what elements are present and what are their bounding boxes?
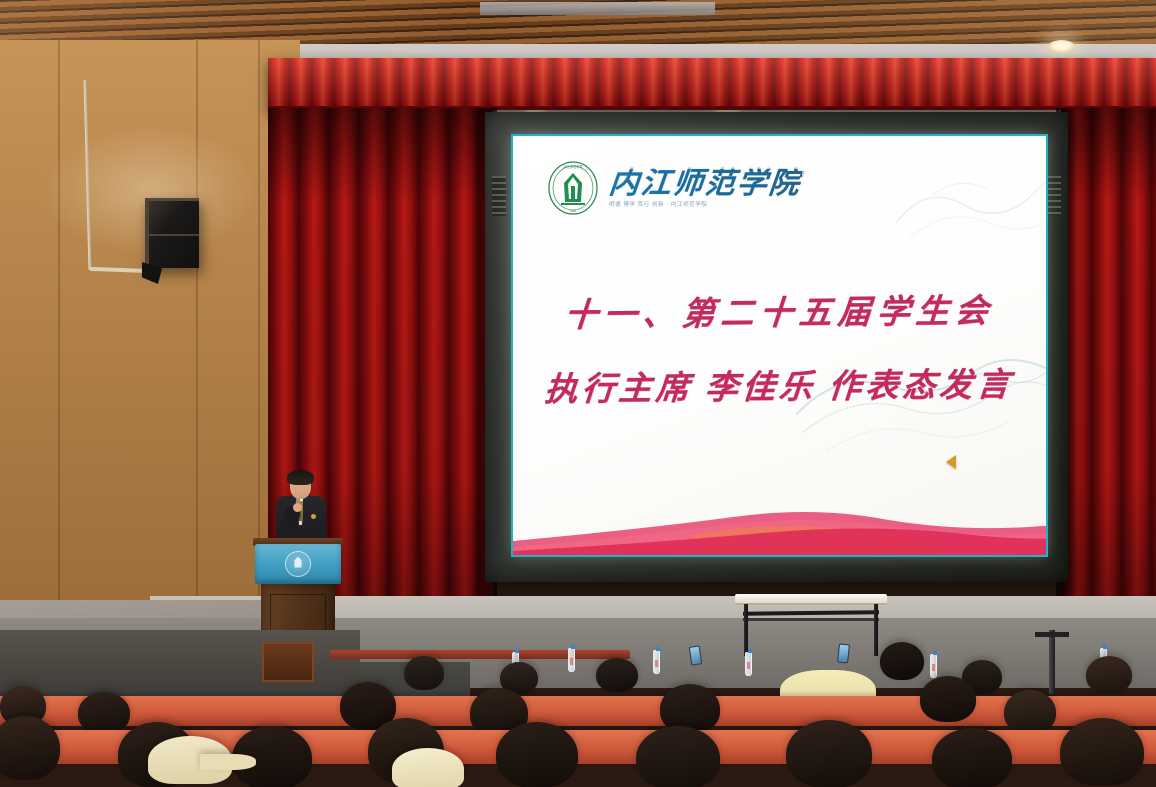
audience-head: [636, 726, 720, 787]
presenter-hair: [287, 470, 314, 485]
slide-logo-motto: 明德 博学 笃行 创新 · 内江师范学院: [609, 200, 801, 208]
audience-head: [880, 642, 924, 680]
slide-line-2: 执行主席 李佳乐 作表态发言: [543, 358, 1016, 411]
water-bottle: [745, 652, 752, 676]
audience-area: [0, 630, 1156, 787]
front-row-ledge: [330, 650, 630, 659]
audience-head: [78, 692, 130, 734]
water-bottle: [568, 648, 575, 672]
presenter-figure: [274, 470, 328, 546]
slide-logo: 内江师范学院 1956 内江师范学院 明德 博学 笃行 创新 · 内江师范学院: [547, 160, 801, 216]
water-bottle: [653, 650, 660, 674]
audience-head: [920, 676, 976, 722]
ceiling-spotlight: [1048, 40, 1075, 53]
frame-vent: [1047, 176, 1061, 216]
audience-head: [1004, 690, 1056, 734]
truss-pole: [1049, 630, 1055, 694]
curtain-valance: [268, 58, 1156, 110]
projection-screen: 内江师范学院 1956 内江师范学院 明德 博学 笃行 创新 · 内江师范学院 …: [513, 136, 1046, 555]
audience-head: [596, 658, 638, 692]
presenter-hand: [293, 503, 302, 512]
loudspeaker-icon: [145, 198, 199, 268]
audience-head: [496, 722, 578, 787]
slide-logo-name-cn: 内江师范学院: [607, 169, 802, 199]
auditorium-photo: 内江师范学院 1956 内江师范学院 明德 博学 笃行 创新 · 内江师范学院 …: [0, 0, 1156, 787]
truss-arm: [1035, 632, 1069, 637]
smartphone: [689, 645, 703, 665]
baseball-cap: [392, 748, 464, 787]
seat-row: [0, 696, 1156, 726]
audience-head: [1060, 718, 1144, 786]
audience-head: [404, 656, 444, 690]
audience-head: [0, 716, 60, 780]
table-top: [735, 594, 887, 605]
curtain-panel-right: [1061, 108, 1156, 633]
university-crest-icon: [285, 551, 311, 577]
podium-front-panel: [255, 544, 341, 584]
hall-doorway: [262, 642, 314, 682]
gold-triangle-marker: [946, 455, 956, 469]
projection-screen-frame: 内江师范学院 1956 内江师范学院 明德 博学 笃行 创新 · 内江师范学院 …: [485, 112, 1068, 582]
university-crest-icon: 内江师范学院 1956: [547, 160, 599, 216]
ink-wash-watermark-top: [886, 153, 1046, 273]
cap-brim: [200, 754, 256, 770]
svg-text:1956: 1956: [570, 209, 577, 213]
smartphone: [837, 643, 850, 663]
slide-wave-decoration: [513, 483, 1046, 555]
audience-head: [932, 728, 1012, 787]
audience-head: [786, 720, 872, 787]
slide-line-1: 十一、第二十五届学生会: [563, 284, 996, 336]
water-bottle: [930, 654, 937, 678]
ceiling-vent: [480, 2, 715, 15]
audience-head: [1086, 656, 1132, 694]
lapel-badge: [311, 514, 316, 519]
table-rail: [743, 618, 879, 621]
svg-text:内江师范学院: 内江师范学院: [563, 164, 583, 169]
table-rail: [743, 610, 879, 615]
frame-vent: [492, 176, 506, 216]
slide-text-block: 十一、第二十五届学生会 执行主席 李佳乐 作表态发言: [513, 286, 1046, 408]
